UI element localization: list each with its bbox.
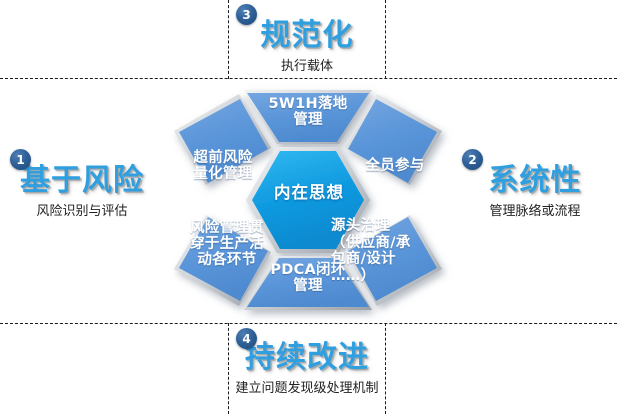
quadrant-subtitle-1: 风险识别与评估 (2, 200, 162, 219)
quadrant-badge-2: 2 (462, 149, 483, 170)
quadrant-badge-3: 3 (236, 4, 257, 25)
quadrant-label-4: 4 持续改进 建立问题发现级处理机制 (228, 330, 386, 396)
quadrant-label-2: 2 系统性 管理脉络或流程 (456, 165, 614, 219)
quadrant-badge-1: 1 (10, 149, 31, 170)
quadrant-subtitle-4: 建立问题发现级处理机制 (228, 377, 386, 396)
quadrant-title-2: 系统性 (456, 165, 614, 197)
quadrant-label-3: 3 规范化 执行载体 (228, 6, 386, 74)
quadrant-subtitle-2: 管理脉络或流程 (456, 200, 614, 219)
quadrant-label-1: 1 基于风险 风险识别与评估 (2, 165, 162, 219)
quadrant-subtitle-3: 执行载体 (228, 55, 386, 74)
quadrant-title-3: 规范化 (228, 20, 386, 52)
diagram-canvas: 5W1H落地 管理 超前风险 量化管理 全员参与 风险管理贯 穿于生产活 动各环… (0, 0, 617, 414)
hexagon-cluster: 5W1H落地 管理 超前风险 量化管理 全员参与 风险管理贯 穿于生产活 动各环… (143, 72, 473, 328)
hexagon-graphic (143, 72, 473, 328)
hex-cell-center (246, 147, 370, 253)
quadrant-badge-4: 4 (236, 328, 257, 349)
quadrant-title-1: 基于风险 (2, 165, 162, 197)
